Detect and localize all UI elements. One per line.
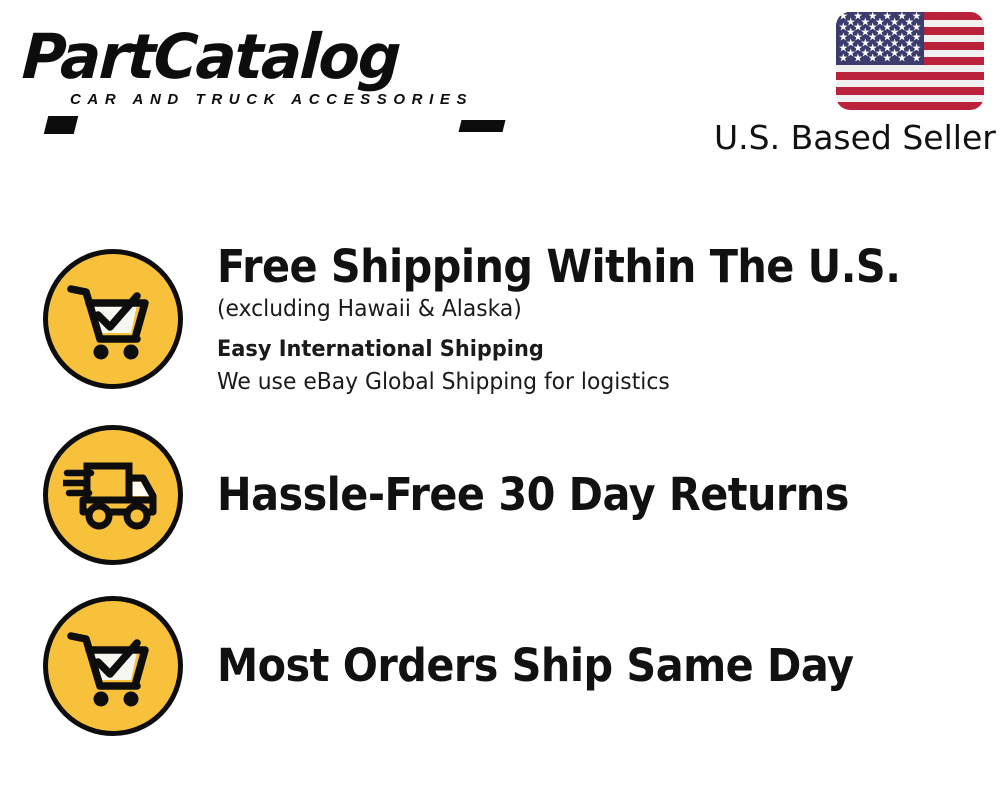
logo-accent-left (44, 116, 78, 134)
seller-label: U.S. Based Seller (714, 119, 984, 157)
promo-banner: PartCatalog CAR AND TRUCK ACCESSORIES ★★… (0, 0, 1000, 800)
feature-heading: Hassle-Free 30 Day Returns (217, 469, 919, 521)
feature-text: Hassle-Free 30 Day Returns (217, 469, 1000, 521)
brand-wordmark: PartCatalog (21, 24, 480, 90)
flag-star-icon: ★ (897, 54, 907, 65)
flag-star-icon: ★ (868, 54, 878, 65)
feature-heading: Most Orders Ship Same Day (217, 640, 919, 692)
delivery-truck-icon (43, 425, 183, 565)
brand-tagline: CAR AND TRUCK ACCESSORIES (70, 91, 494, 108)
feature-text: Most Orders Ship Same Day (217, 640, 1000, 692)
flag-stripe (836, 102, 984, 110)
us-based-seller-badge: ★★★★★★★★★★★★★★★★★★★★★★★★★★★★★★★★★★★★★★★★… (714, 12, 984, 157)
logo-accent-right (459, 120, 506, 132)
feature-detail: We use eBay Global Shipping for logistic… (217, 366, 942, 398)
feature-note: (excluding Hawaii & Alaska) (217, 293, 942, 325)
flag-star-icon: ★ (882, 54, 892, 65)
us-flag-icon: ★★★★★★★★★★★★★★★★★★★★★★★★★★★★★★★★★★★★★★★★… (836, 12, 984, 110)
shopping-cart-check-icon (43, 596, 183, 736)
feature-subheading: Easy International Shipping (217, 334, 942, 366)
flag-star-icon: ★ (853, 54, 863, 65)
flag-star-icon: ★ (912, 54, 922, 65)
feature-heading: Free Shipping Within The U.S. (217, 241, 919, 293)
feature-row: Most Orders Ship Same Day (0, 590, 1000, 742)
brand-logo: PartCatalog CAR AND TRUCK ACCESSORIES (24, 24, 494, 114)
feature-row: Free Shipping Within The U.S. (excluding… (0, 243, 1000, 395)
feature-row: Hassle-Free 30 Day Returns (0, 419, 1000, 571)
flag-canton: ★★★★★★★★★★★★★★★★★★★★★★★★★★★★★★★★★★★★★★★★… (836, 12, 924, 65)
shopping-cart-check-icon (43, 249, 183, 389)
feature-text: Free Shipping Within The U.S. (excluding… (217, 241, 1000, 398)
flag-star-icon: ★ (838, 54, 848, 65)
